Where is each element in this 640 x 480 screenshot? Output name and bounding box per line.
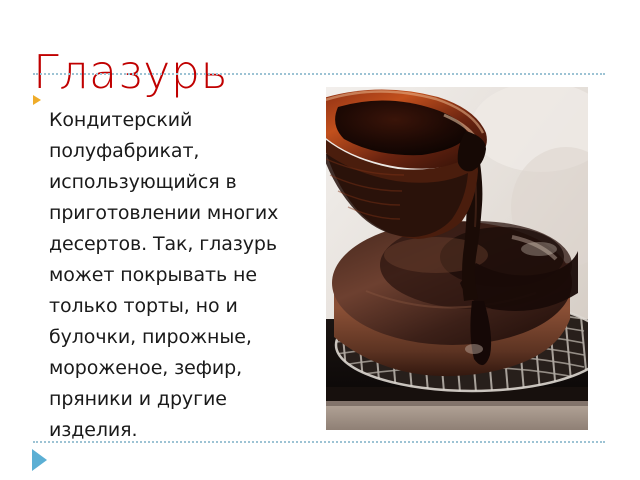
chocolate-glaze-photo bbox=[326, 87, 588, 430]
bullet-marker bbox=[33, 86, 49, 105]
triangle-right-icon bbox=[32, 449, 47, 471]
content-body: Кондитерский полуфабрикат, использующийс… bbox=[33, 86, 313, 465]
divider-bottom bbox=[33, 441, 605, 443]
list-item: Кондитерский полуфабрикат, использующийс… bbox=[33, 86, 313, 465]
divider-top bbox=[33, 73, 605, 75]
chocolate-glaze-illustration bbox=[326, 87, 588, 430]
presentation-slide: Глазурь Кондитерский полуфабрикат, испол… bbox=[0, 0, 640, 480]
list-item-text: Кондитерский полуфабрикат, использующийс… bbox=[49, 105, 313, 446]
triangle-right-icon bbox=[33, 95, 41, 105]
